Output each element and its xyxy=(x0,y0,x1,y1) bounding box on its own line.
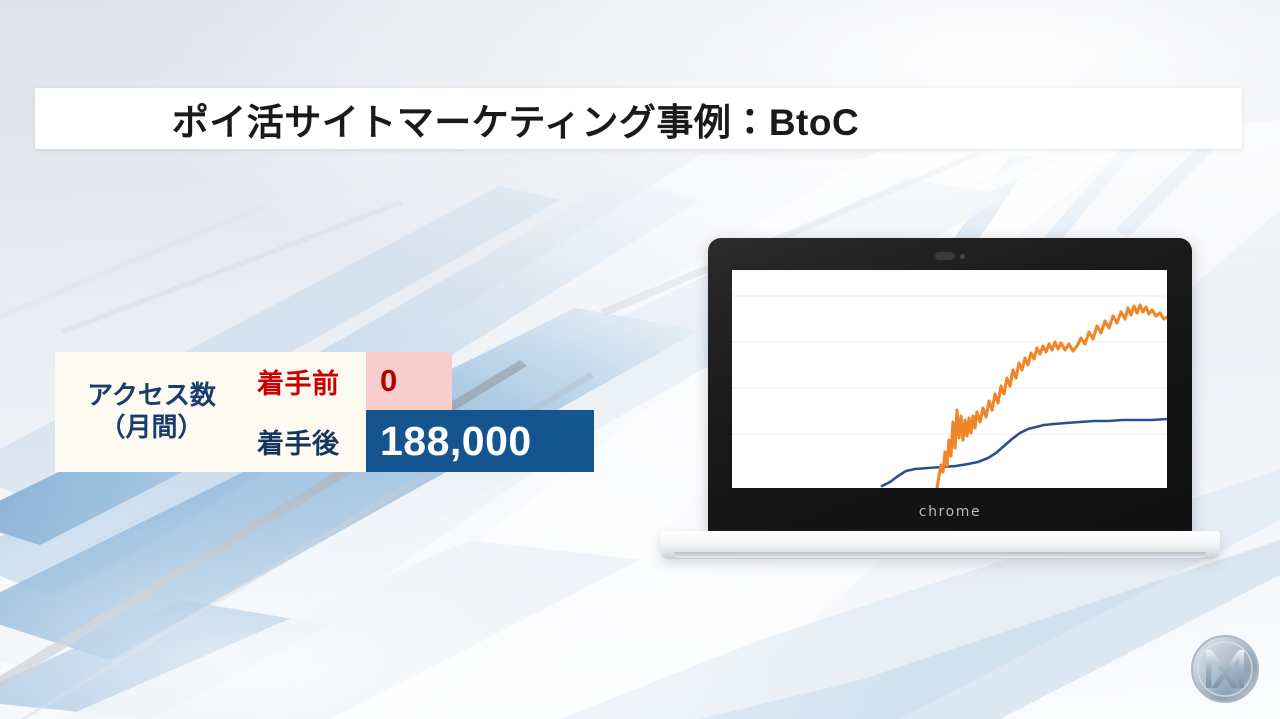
laptop-base-lip xyxy=(674,552,1206,558)
table-row: 着手後 188,000 xyxy=(248,410,594,472)
logo-monogram-icon xyxy=(1187,631,1263,707)
webcam-icon xyxy=(928,251,972,261)
webcam-dot xyxy=(960,254,965,259)
slide-canvas: ポイ活サイトマーケティング事例：BtoC アクセス数 （月間） 着手前 0 着手… xyxy=(0,0,1280,719)
growth-line-chart xyxy=(732,270,1167,488)
laptop-screen xyxy=(732,270,1167,488)
chromebook-laptop: chrome xyxy=(660,238,1220,568)
row-value-before: 0 xyxy=(366,352,452,410)
laptop-lid: chrome xyxy=(708,238,1192,535)
stats-table: アクセス数 （月間） 着手前 0 着手後 188,000 xyxy=(55,352,594,472)
table-row: 着手前 0 xyxy=(248,352,594,410)
row-key-after: 着手後 xyxy=(248,410,366,472)
stats-label-line1: アクセス数 xyxy=(87,380,216,412)
stats-table-label-cell: アクセス数 （月間） xyxy=(55,352,248,472)
stats-rows: 着手前 0 着手後 188,000 xyxy=(248,352,594,472)
page-title: ポイ活サイトマーケティング事例：BtoC xyxy=(35,88,1242,149)
webcam-bar xyxy=(935,252,955,260)
row-value-after: 188,000 xyxy=(366,410,594,472)
laptop-brand-label: chrome xyxy=(708,504,1192,520)
row-key-before: 着手前 xyxy=(248,352,366,410)
stats-label-line2: （月間） xyxy=(99,412,203,444)
company-logo xyxy=(1187,631,1263,707)
